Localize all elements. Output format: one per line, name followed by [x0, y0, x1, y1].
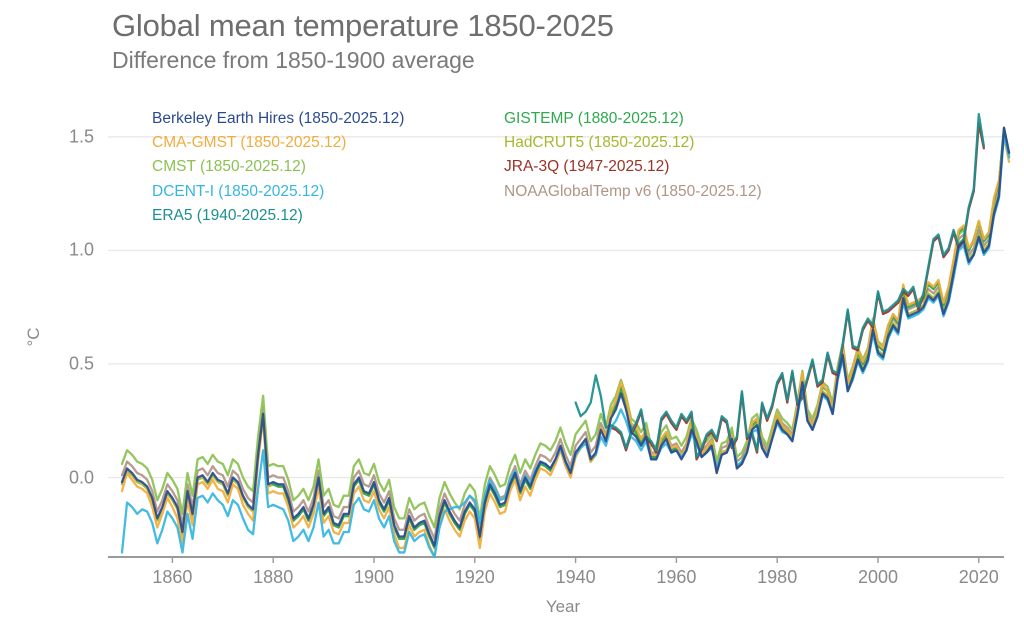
legend-column-right: GISTEMP (1880-2025.12) HadCRUT5 (1850-20… [504, 107, 762, 204]
legend-item-dcent-i[interactable]: DCENT-I (1850-2025.12) [152, 180, 404, 204]
legend-item-hadcrut5[interactable]: HadCRUT5 (1850-2025.12) [504, 131, 762, 155]
x-tick-label: 1880 [238, 567, 308, 588]
x-tick-label: 1960 [641, 567, 711, 588]
x-tick-label: 1900 [339, 567, 409, 588]
legend-item-era5[interactable]: ERA5 (1940-2025.12) [152, 204, 404, 228]
legend-column-left: Berkeley Earth Hires (1850-2025.12) CMA-… [152, 107, 404, 228]
legend-item-cmst[interactable]: CMST (1850-2025.12) [152, 155, 404, 179]
legend-item-jra-3q[interactable]: JRA-3Q (1947-2025.12) [504, 155, 762, 179]
legend-item-noaaglobaltemp-v6[interactable]: NOAAGlobalTemp v6 (1850-2025.12) [504, 180, 762, 204]
y-tick-label: 1.0 [44, 240, 94, 261]
legend-item-cma-gmst[interactable]: CMA-GMST (1850-2025.12) [152, 131, 404, 155]
y-tick-label: 1.5 [44, 126, 94, 147]
legend-item-berkeley-earth-hires[interactable]: Berkeley Earth Hires (1850-2025.12) [152, 107, 404, 131]
y-axis-label: °C [24, 317, 44, 357]
x-tick-label: 1980 [742, 567, 812, 588]
y-tick-label: 0.5 [44, 353, 94, 374]
x-tick-label: 1860 [137, 567, 207, 588]
x-axis-label: Year [546, 597, 580, 617]
plot-area [0, 0, 1024, 635]
temperature-chart: Global mean temperature 1850-2025 Differ… [0, 0, 1024, 635]
x-tick-label: 2020 [944, 567, 1014, 588]
y-tick-label: 0.0 [44, 467, 94, 488]
x-tick-label: 1940 [541, 567, 611, 588]
legend-item-gistemp[interactable]: GISTEMP (1880-2025.12) [504, 107, 762, 131]
x-tick-label: 2000 [843, 567, 913, 588]
x-tick-label: 1920 [440, 567, 510, 588]
